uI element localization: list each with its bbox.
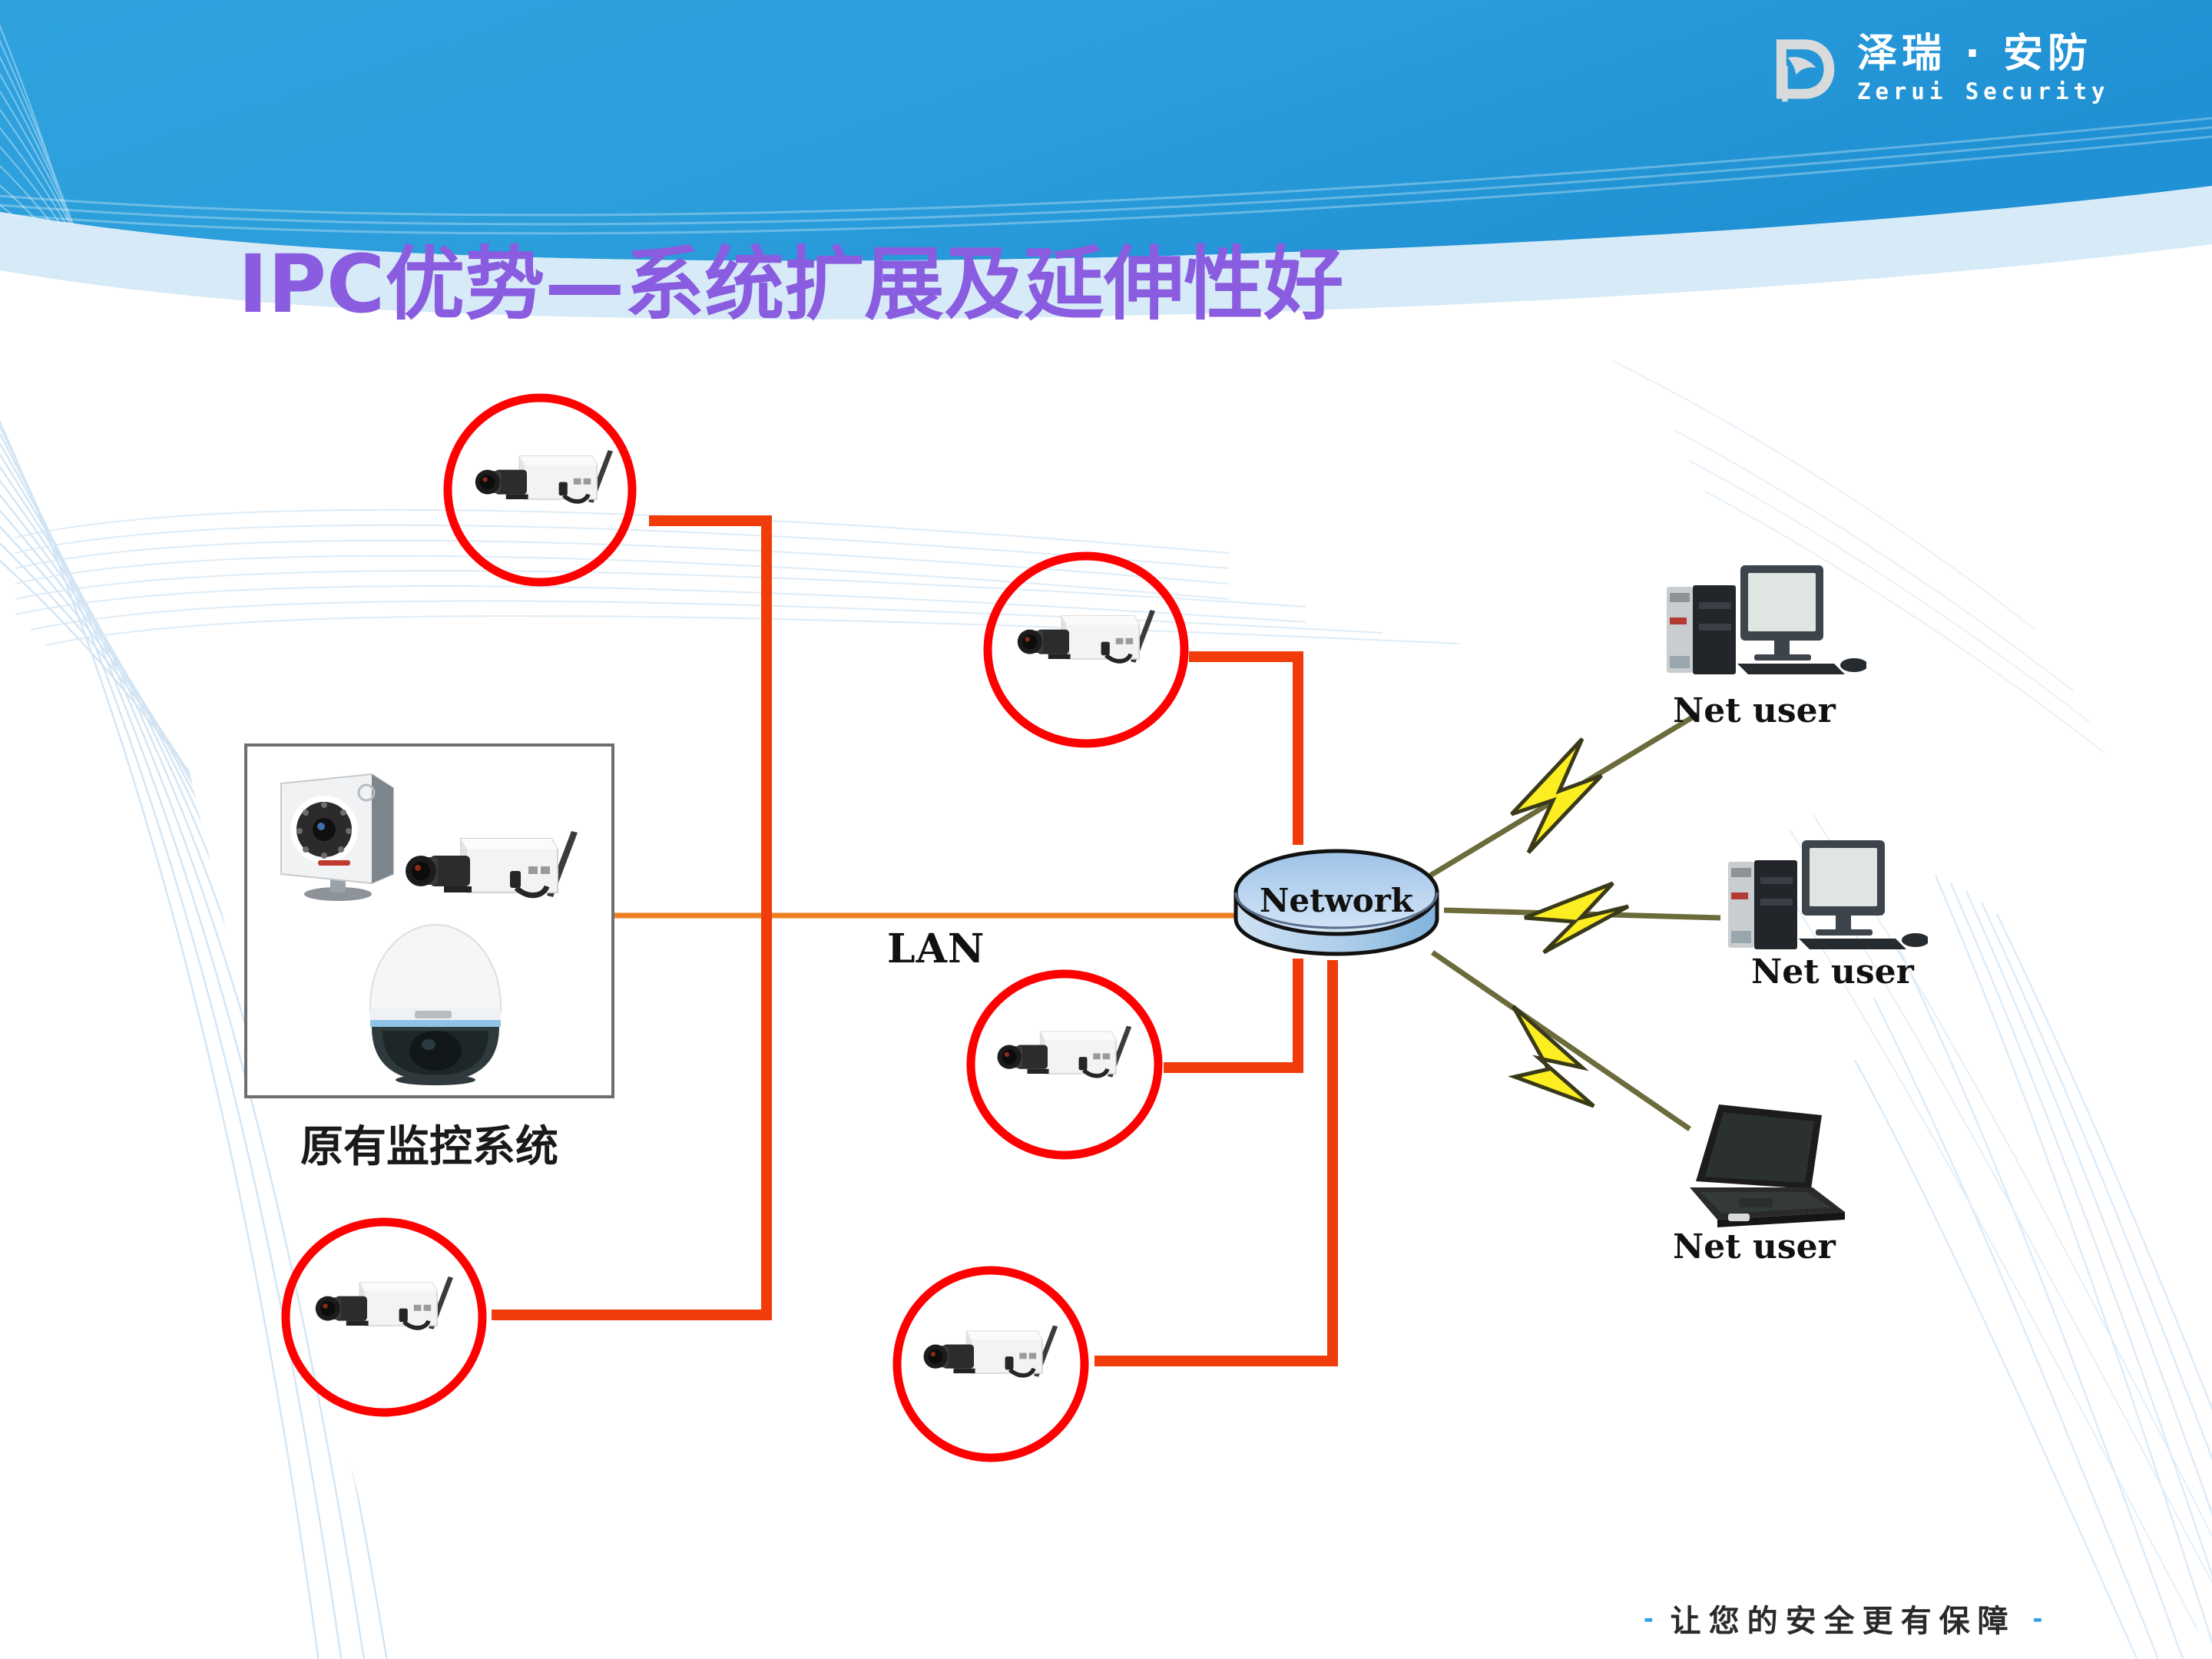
network-diagram: 原有监控系统 LAN Network: [0, 0, 2212, 1659]
footer-tagline: - 让您的安全更有保障 -: [1644, 1594, 2151, 1643]
net-user-bottom-label: Net user: [1673, 1227, 1836, 1267]
ray-net-user-bottom: [1432, 952, 1690, 1129]
footer-dash-left: -: [1644, 1604, 1654, 1633]
footer-dash-right: -: [2033, 1604, 2043, 1633]
wire-mid-lower: [1164, 959, 1298, 1068]
cube-ip-camera-icon: [264, 767, 410, 905]
ptz-dome-camera-icon: [355, 914, 516, 1091]
network-node[interactable]: [1233, 845, 1440, 960]
net-user-middle-label: Net user: [1751, 952, 1914, 992]
footer-text: 让您的安全更有保障: [1671, 1596, 2016, 1641]
ipc-camera-bottom-mid[interactable]: [891, 1266, 1098, 1464]
ipc-camera-bottom-left[interactable]: [275, 1214, 498, 1421]
desktop-pc-icon-middle: [1713, 829, 1928, 964]
ipc-camera-mid-upper[interactable]: [982, 551, 1197, 751]
ipc-camera-top-left[interactable]: [436, 390, 644, 590]
legacy-system-box: [244, 743, 614, 1098]
desktop-pc-icon-top: [1651, 555, 1866, 689]
legacy-system-label: 原有监控系统: [244, 1112, 614, 1174]
slide-canvas: 泽瑞 · 安防 Zerui Security IPC优势—系统扩展及延伸性好: [0, 0, 2212, 1659]
laptop-icon: [1674, 1091, 1866, 1237]
wire-mid-upper: [1189, 657, 1298, 845]
ipc-camera-mid-lower[interactable]: [965, 969, 1172, 1163]
lan-label: LAN: [887, 926, 985, 972]
lightning-bolt-icon-top: [1512, 739, 1601, 853]
lightning-bolt-icon-middle: [1525, 883, 1628, 952]
net-user-top-label: Net user: [1673, 691, 1836, 730]
